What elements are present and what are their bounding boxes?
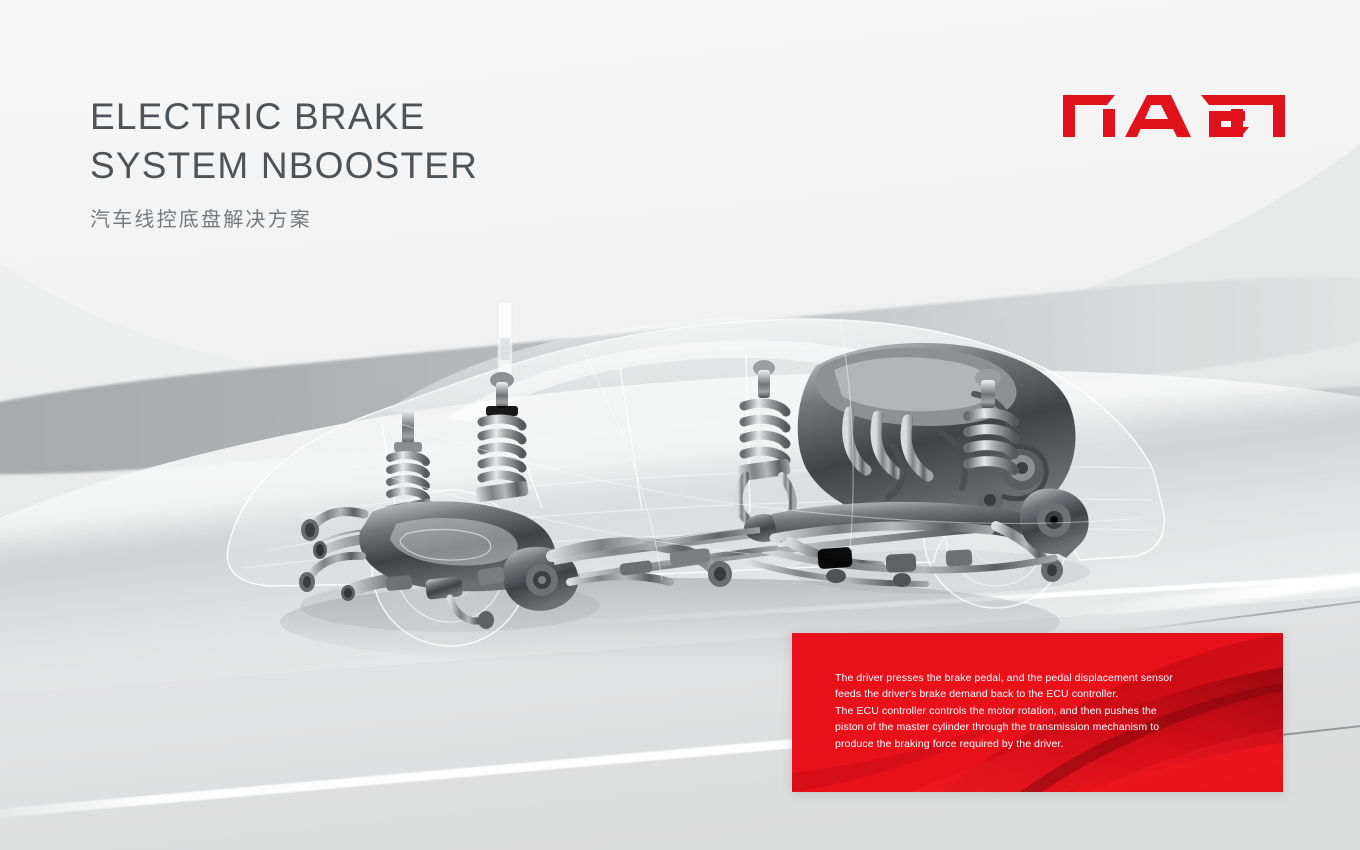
car-chassis-cutaway-illustration xyxy=(150,250,1210,680)
status-callout-panel: The driver presses the brake pedal, and … xyxy=(792,633,1283,792)
nasn-logo xyxy=(1063,83,1285,137)
callout-line-1: The driver presses the brake pedal, and … xyxy=(835,670,1143,686)
callout-line-5: produce the braking force required by th… xyxy=(835,736,1143,752)
callout-line-4: piston of the master cylinder through th… xyxy=(835,719,1143,735)
page-title: ELECTRIC BRAKE SYSTEM NBOOSTER 汽车线控底盘解决方… xyxy=(90,92,478,232)
callout-description: The driver presses the brake pedal, and … xyxy=(835,670,1143,752)
title-line-2: SYSTEM NBOOSTER xyxy=(90,141,478,190)
slide-canvas: ELECTRIC BRAKE SYSTEM NBOOSTER 汽车线控底盘解决方… xyxy=(0,0,1360,850)
subtitle-chinese: 汽车线控底盘解决方案 xyxy=(90,203,478,232)
callout-line-2: feeds the driver's brake demand back to … xyxy=(835,686,1143,702)
callout-line-3: The ECU controller controls the motor ro… xyxy=(835,703,1143,719)
title-line-1: ELECTRIC BRAKE xyxy=(90,92,478,141)
